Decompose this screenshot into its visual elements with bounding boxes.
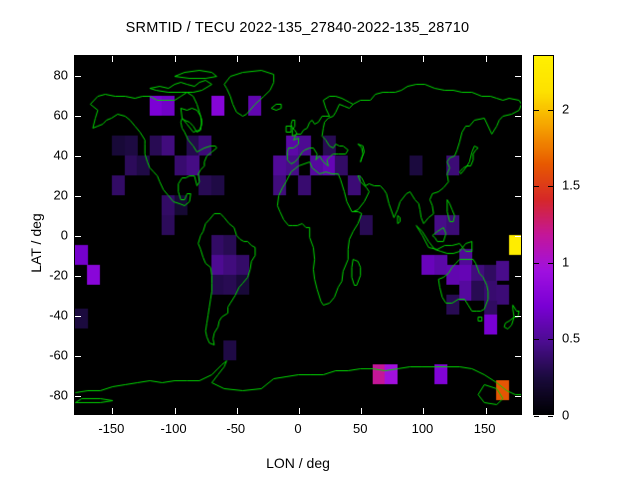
- x-tick: [112, 56, 113, 62]
- colorbar-tick: [534, 339, 539, 340]
- x-tick-label: 100: [412, 421, 434, 436]
- y-tick: [515, 396, 521, 397]
- map-plot-area: [74, 55, 522, 415]
- colorbar-tick: [548, 339, 553, 340]
- colorbar-tick: [534, 110, 539, 111]
- x-tick: [299, 56, 300, 62]
- x-tick: [112, 408, 113, 414]
- y-tick: [75, 76, 81, 77]
- axis-ticks-layer: [75, 56, 521, 414]
- x-tick: [175, 408, 176, 414]
- x-tick-label: 0: [294, 421, 301, 436]
- colorbar-tick-label: 0.5: [562, 331, 580, 346]
- colorbar: [533, 55, 554, 415]
- y-tick: [75, 356, 81, 357]
- colorbar-tick: [548, 110, 553, 111]
- y-tick-label: 20: [8, 188, 68, 203]
- x-tick: [237, 56, 238, 62]
- x-tick: [175, 56, 176, 62]
- y-tick: [75, 116, 81, 117]
- y-tick-label: 0: [8, 228, 68, 243]
- y-tick: [515, 196, 521, 197]
- y-tick: [75, 196, 81, 197]
- y-tick-label: -60: [8, 348, 68, 363]
- y-tick: [75, 396, 81, 397]
- colorbar-tick: [534, 263, 539, 264]
- x-tick-label: 50: [353, 421, 367, 436]
- colorbar-tick: [534, 416, 539, 417]
- x-tick: [299, 408, 300, 414]
- y-tick-label: 80: [8, 68, 68, 83]
- x-tick: [486, 408, 487, 414]
- colorbar-tick-label: 2: [562, 101, 569, 116]
- y-tick: [75, 276, 81, 277]
- colorbar-tick-label: 1.5: [562, 178, 580, 193]
- x-tick-label: -150: [98, 421, 124, 436]
- colorbar-tick: [548, 186, 553, 187]
- y-tick-label: 60: [8, 108, 68, 123]
- y-tick: [75, 156, 81, 157]
- x-tick-label: -50: [226, 421, 245, 436]
- x-tick: [423, 408, 424, 414]
- y-tick-label: -80: [8, 388, 68, 403]
- colorbar-tick-label: 1: [562, 254, 569, 269]
- y-tick: [515, 316, 521, 317]
- y-tick: [75, 236, 81, 237]
- x-tick: [486, 56, 487, 62]
- x-tick-label: 150: [474, 421, 496, 436]
- x-tick: [237, 408, 238, 414]
- y-tick-label: -20: [8, 268, 68, 283]
- colorbar-tick: [548, 263, 553, 264]
- x-tick: [423, 56, 424, 62]
- y-tick: [515, 156, 521, 157]
- y-tick: [515, 76, 521, 77]
- x-axis-title: LON / deg: [74, 455, 522, 471]
- x-tick: [361, 56, 362, 62]
- y-tick-label: -40: [8, 308, 68, 323]
- colorbar-tick: [534, 186, 539, 187]
- y-tick: [515, 276, 521, 277]
- chart-title: SRMTID / TECU 2022-135_27840-2022-135_28…: [0, 20, 595, 36]
- y-tick: [515, 356, 521, 357]
- y-tick-label: 40: [8, 148, 68, 163]
- colorbar-tick: [548, 416, 553, 417]
- figure: SRMTID / TECU 2022-135_27840-2022-135_28…: [0, 0, 640, 480]
- y-tick: [515, 236, 521, 237]
- y-tick: [75, 316, 81, 317]
- x-tick: [361, 408, 362, 414]
- y-tick: [515, 116, 521, 117]
- x-tick-label: -100: [161, 421, 187, 436]
- colorbar-tick-label: 0: [562, 408, 569, 423]
